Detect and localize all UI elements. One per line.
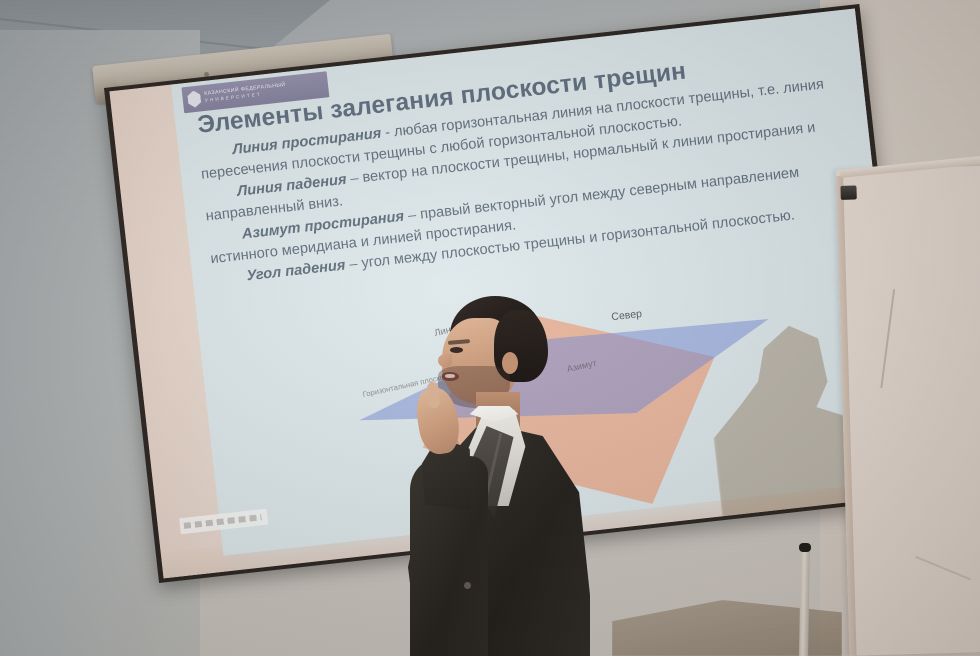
presenter-jacket-button [464, 582, 471, 589]
presenter-nose [438, 354, 452, 367]
whiteboard-surface [836, 166, 980, 656]
stand-pole [799, 545, 810, 656]
diagram-label-north: Север [611, 308, 643, 323]
lecture-photo: КАЗАНСКИЙ ФЕДЕРАЛЬНЫЙ УНИВЕРСИТЕТ Элемен… [0, 0, 980, 656]
stand-pole-cap [799, 543, 811, 552]
presenter-ear [502, 352, 518, 374]
presenter-teeth [445, 374, 455, 378]
whiteboard [836, 166, 980, 656]
presenter-eye [450, 347, 463, 353]
university-crest-icon [187, 90, 202, 108]
logo-text: КАЗАНСКИЙ ФЕДЕРАЛЬНЫЙ УНИВЕРСИТЕТ [204, 83, 287, 103]
whiteboard-clip [840, 185, 856, 199]
whiteboard-smudge-2 [871, 489, 887, 502]
presenter [398, 296, 608, 656]
